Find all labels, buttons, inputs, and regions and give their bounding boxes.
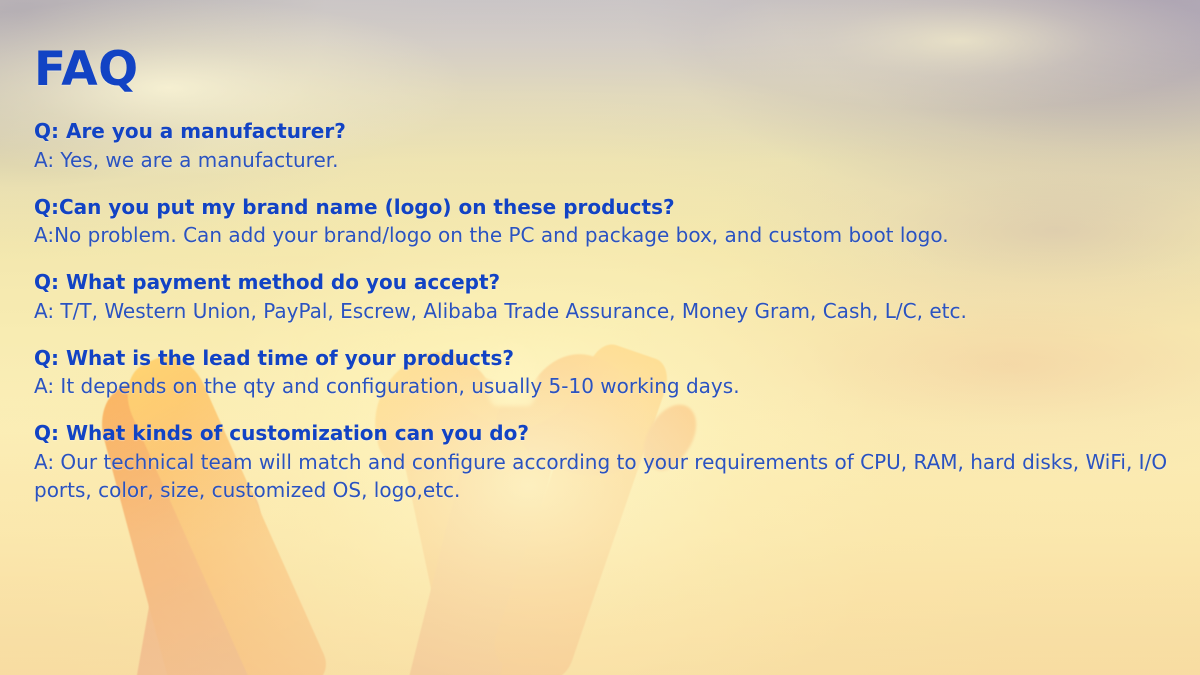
page-title: FAQ: [34, 46, 139, 93]
faq-answer: A: T/T, Western Union, PayPal, Escrew, A…: [34, 297, 1172, 325]
faq-question: Q:Can you put my brand name (logo) on th…: [34, 194, 1172, 222]
faq-item-4: Q: What is the lead time of your product…: [34, 345, 1172, 401]
faq-answer: A:No problem. Can add your brand/logo on…: [34, 221, 1172, 249]
faq-item-1: Q: Are you a manufacturer? A: Yes, we ar…: [34, 118, 1172, 174]
faq-answer: A: Yes, we are a manufacturer.: [34, 146, 1172, 174]
faq-content: FAQ Q: Are you a manufacturer? A: Yes, w…: [0, 0, 1200, 675]
faq-answer: A: It depends on the qty and configurati…: [34, 372, 1172, 400]
faq-banner: FAQ Q: Are you a manufacturer? A: Yes, w…: [0, 0, 1200, 675]
faq-question: Q: What is the lead time of your product…: [34, 345, 1172, 373]
faq-item-5: Q: What kinds of customization can you d…: [34, 420, 1172, 504]
faq-answer: A: Our technical team will match and con…: [34, 448, 1172, 504]
faq-question: Q: Are you a manufacturer?: [34, 118, 1172, 146]
faq-question: Q: What payment method do you accept?: [34, 269, 1172, 297]
faq-item-3: Q: What payment method do you accept? A:…: [34, 269, 1172, 325]
faq-list: Q: Are you a manufacturer? A: Yes, we ar…: [34, 118, 1172, 504]
faq-question: Q: What kinds of customization can you d…: [34, 420, 1172, 448]
faq-item-2: Q:Can you put my brand name (logo) on th…: [34, 194, 1172, 250]
